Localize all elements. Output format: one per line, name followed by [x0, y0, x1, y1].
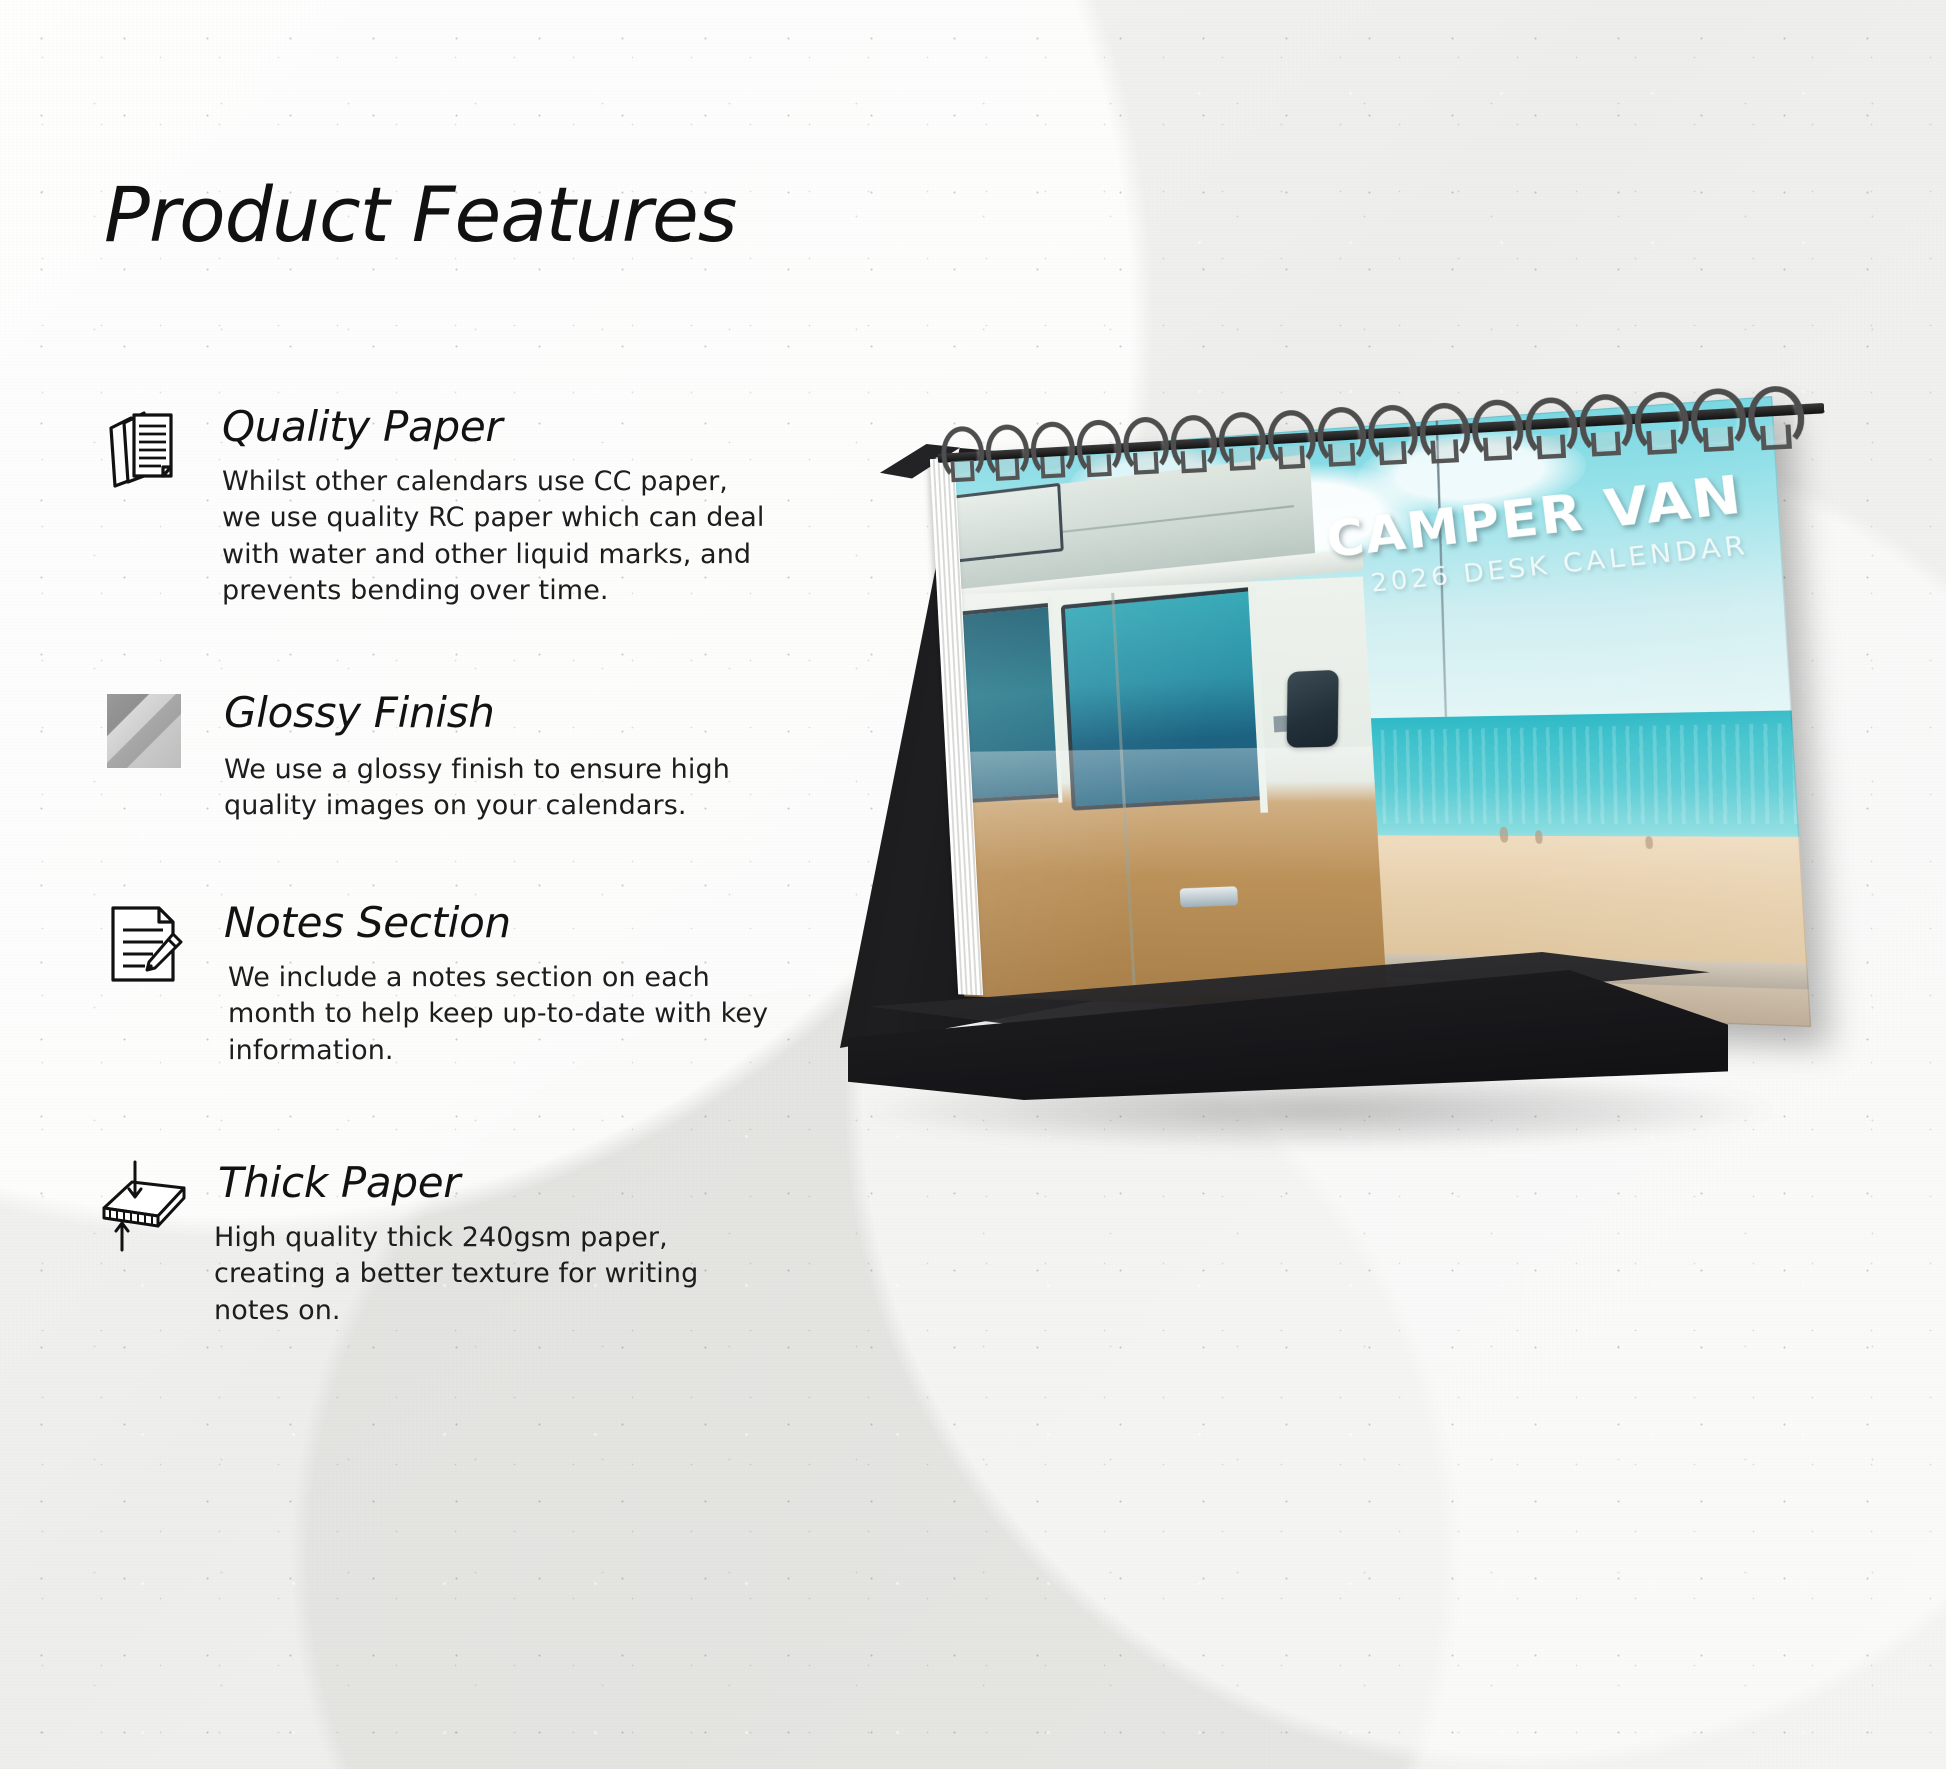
- stacked-documents-icon: [96, 404, 192, 490]
- van-roof-vent: [948, 483, 1064, 563]
- features-column: Product Features Quality Paper Whilst ot…: [0, 0, 900, 1769]
- desk-calendar-mockup: CAMPER VAN 2026 DESK CALENDAR: [840, 430, 1840, 1210]
- spiral-coil-foot: [1703, 427, 1734, 452]
- feature-notes-section: Notes Section We include a notes section…: [96, 900, 796, 1069]
- feature-body: High quality thick 240gsm paper, creatin…: [214, 1220, 814, 1329]
- spiral-coil-foot: [951, 460, 975, 482]
- spiral-coil-foot: [1181, 450, 1207, 473]
- spiral-coil-foot: [1229, 448, 1256, 471]
- spiral-coil-foot: [1133, 452, 1159, 475]
- spiral-coil-foot: [1040, 456, 1065, 479]
- feature-body: We use a glossy finish to ensure high qu…: [224, 752, 824, 824]
- page-title: Product Features: [104, 170, 736, 259]
- spiral-coil-foot: [1328, 443, 1356, 467]
- spiral-coil-foot: [1278, 445, 1305, 469]
- glossy-swatch-icon: [96, 690, 192, 776]
- feature-heading: Thick Paper: [218, 1160, 796, 1206]
- calendar-cover-photo: CAMPER VAN 2026 DESK CALENDAR: [936, 396, 1811, 1027]
- spiral-coil-foot: [1430, 439, 1459, 463]
- feature-heading: Notes Section: [224, 900, 796, 946]
- feature-glossy-finish: Glossy Finish We use a glossy finish to …: [96, 690, 796, 825]
- feature-body: We include a notes section on each month…: [228, 960, 828, 1069]
- feature-heading: Quality Paper: [222, 404, 796, 450]
- feature-heading: Glossy Finish: [224, 690, 796, 736]
- photo-camper-van: [936, 461, 1388, 1011]
- spiral-coil-foot: [1591, 432, 1621, 457]
- feature-thick-paper: Thick Paper High quality thick 240gsm pa…: [96, 1160, 796, 1329]
- spiral-coil-foot: [1536, 434, 1566, 459]
- feature-quality-paper: Quality Paper Whilst other calendars use…: [96, 404, 796, 609]
- spiral-coil-foot: [1086, 454, 1111, 477]
- feature-body: Whilst other calendars use CC paper, we …: [222, 464, 822, 609]
- notepad-pencil-icon: [96, 900, 192, 986]
- van-body-reflection: [937, 747, 1381, 879]
- van-side-mirror: [1286, 670, 1338, 748]
- spiral-coil-foot: [995, 458, 1020, 481]
- van-door-handle: [1180, 887, 1239, 908]
- spiral-coil-foot: [1646, 429, 1677, 454]
- spiral-coil-foot: [1483, 436, 1512, 461]
- spiral-coil-foot: [1760, 424, 1792, 450]
- paper-thickness-icon: [96, 1160, 192, 1246]
- spiral-coil-foot: [1379, 441, 1407, 465]
- photo-beach-person: [1499, 827, 1508, 843]
